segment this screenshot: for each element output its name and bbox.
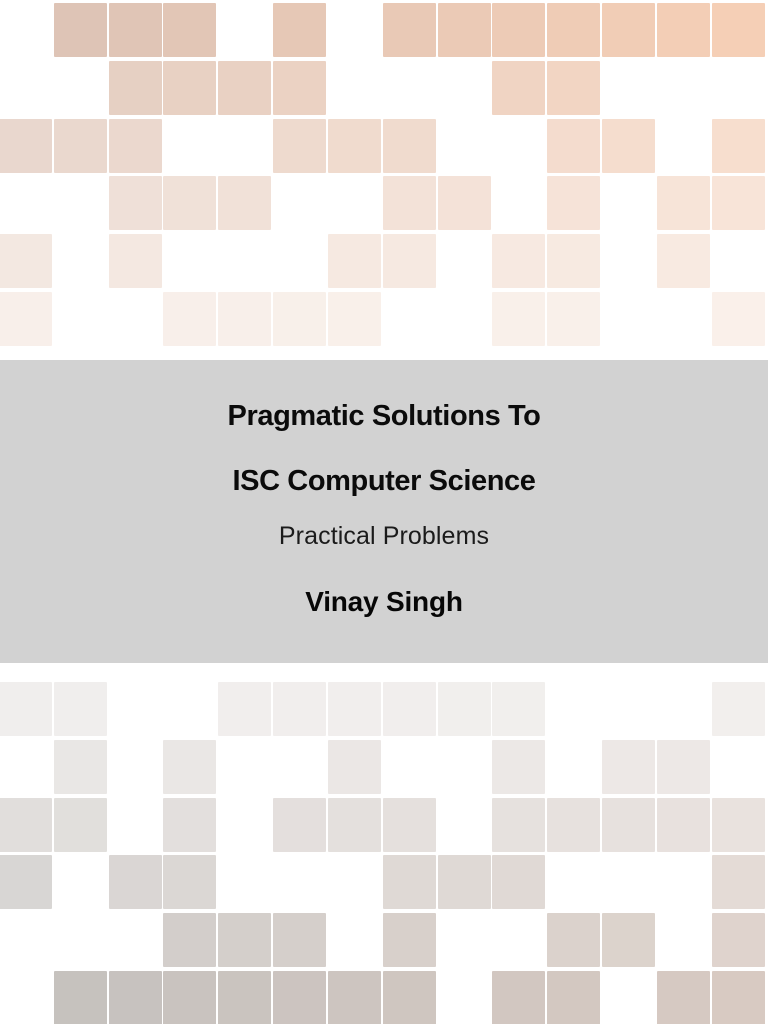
mosaic-tile xyxy=(492,234,545,288)
mosaic-tile xyxy=(492,798,545,852)
mosaic-tile xyxy=(657,234,710,288)
mosaic-tile xyxy=(328,971,381,1024)
mosaic-tile xyxy=(712,176,765,230)
mosaic-tile xyxy=(602,913,655,967)
mosaic-tile xyxy=(328,234,381,288)
mosaic-tile xyxy=(273,971,326,1024)
mosaic-tile xyxy=(163,176,216,230)
mosaic-tile xyxy=(383,855,436,909)
mosaic-tile xyxy=(547,3,600,57)
mosaic-tile xyxy=(383,234,436,288)
mosaic-tile xyxy=(602,740,655,794)
book-author: Vinay Singh xyxy=(305,588,463,616)
mosaic-tile xyxy=(163,971,216,1024)
mosaic-tile xyxy=(109,971,162,1024)
mosaic-pattern-bottom xyxy=(0,682,768,1024)
mosaic-tile xyxy=(163,913,216,967)
mosaic-tile xyxy=(657,3,710,57)
mosaic-tile xyxy=(273,913,326,967)
mosaic-tile xyxy=(438,682,491,736)
mosaic-tile xyxy=(492,740,545,794)
mosaic-tile xyxy=(218,176,271,230)
mosaic-tile xyxy=(712,3,765,57)
mosaic-tile xyxy=(712,292,765,346)
mosaic-tile xyxy=(383,682,436,736)
mosaic-tile xyxy=(657,971,710,1024)
mosaic-tile xyxy=(273,119,326,173)
mosaic-tile xyxy=(0,292,52,346)
mosaic-tile xyxy=(712,971,765,1024)
mosaic-tile xyxy=(547,971,600,1024)
mosaic-tile xyxy=(109,119,162,173)
mosaic-tile xyxy=(492,292,545,346)
mosaic-tile xyxy=(328,119,381,173)
mosaic-tile xyxy=(383,798,436,852)
mosaic-tile xyxy=(54,740,107,794)
mosaic-tile xyxy=(109,61,162,115)
mosaic-tile xyxy=(438,3,491,57)
mosaic-tile xyxy=(383,176,436,230)
mosaic-tile xyxy=(54,3,107,57)
mosaic-tile xyxy=(218,292,271,346)
mosaic-tile xyxy=(0,234,52,288)
title-banner: Pragmatic Solutions To ISC Computer Scie… xyxy=(0,360,768,663)
mosaic-tile xyxy=(547,119,600,173)
mosaic-tile xyxy=(547,913,600,967)
mosaic-tile xyxy=(163,740,216,794)
mosaic-tile xyxy=(273,682,326,736)
mosaic-tile xyxy=(438,855,491,909)
mosaic-tile xyxy=(492,61,545,115)
mosaic-tile xyxy=(492,682,545,736)
mosaic-tile xyxy=(0,855,52,909)
mosaic-tile xyxy=(218,682,271,736)
mosaic-tile xyxy=(547,234,600,288)
mosaic-tile xyxy=(492,3,545,57)
mosaic-tile xyxy=(218,913,271,967)
book-subtitle: Practical Problems xyxy=(279,524,489,549)
mosaic-tile xyxy=(602,3,655,57)
mosaic-tile xyxy=(54,798,107,852)
mosaic-tile xyxy=(54,119,107,173)
mosaic-tile xyxy=(273,61,326,115)
mosaic-tile xyxy=(328,682,381,736)
mosaic-tile xyxy=(712,913,765,967)
mosaic-tile xyxy=(109,855,162,909)
mosaic-tile xyxy=(109,234,162,288)
mosaic-tile xyxy=(273,292,326,346)
mosaic-tile xyxy=(492,855,545,909)
mosaic-tile xyxy=(273,3,326,57)
mosaic-tile xyxy=(0,798,52,852)
mosaic-tile xyxy=(273,798,326,852)
mosaic-tile xyxy=(163,292,216,346)
mosaic-tile xyxy=(438,176,491,230)
mosaic-tile xyxy=(383,913,436,967)
book-cover: Pragmatic Solutions To ISC Computer Scie… xyxy=(0,0,768,1024)
mosaic-tile xyxy=(383,119,436,173)
mosaic-tile xyxy=(547,292,600,346)
mosaic-pattern-top xyxy=(0,0,768,360)
mosaic-tile xyxy=(657,176,710,230)
mosaic-tile xyxy=(328,740,381,794)
book-title-line-1: Pragmatic Solutions To xyxy=(228,402,541,431)
mosaic-tile xyxy=(54,682,107,736)
book-title-line-2: ISC Computer Science xyxy=(232,467,535,496)
mosaic-tile xyxy=(218,971,271,1024)
mosaic-tile xyxy=(602,119,655,173)
mosaic-tile xyxy=(657,798,710,852)
mosaic-tile xyxy=(383,3,436,57)
mosaic-tile xyxy=(163,3,216,57)
mosaic-tile xyxy=(163,61,216,115)
mosaic-tile xyxy=(712,798,765,852)
mosaic-tile xyxy=(602,798,655,852)
mosaic-tile xyxy=(163,855,216,909)
mosaic-tile xyxy=(712,682,765,736)
mosaic-tile xyxy=(547,61,600,115)
mosaic-tile xyxy=(328,292,381,346)
mosaic-tile xyxy=(163,798,216,852)
mosaic-tile xyxy=(328,798,381,852)
mosaic-tile xyxy=(547,798,600,852)
mosaic-tile xyxy=(0,682,52,736)
mosaic-tile xyxy=(54,971,107,1024)
mosaic-tile xyxy=(0,119,52,173)
mosaic-tile xyxy=(383,971,436,1024)
mosaic-tile xyxy=(218,61,271,115)
mosaic-tile xyxy=(712,119,765,173)
mosaic-tile xyxy=(109,3,162,57)
mosaic-tile xyxy=(657,740,710,794)
mosaic-tile xyxy=(547,176,600,230)
mosaic-tile xyxy=(712,855,765,909)
mosaic-tile xyxy=(109,176,162,230)
mosaic-tile xyxy=(492,971,545,1024)
